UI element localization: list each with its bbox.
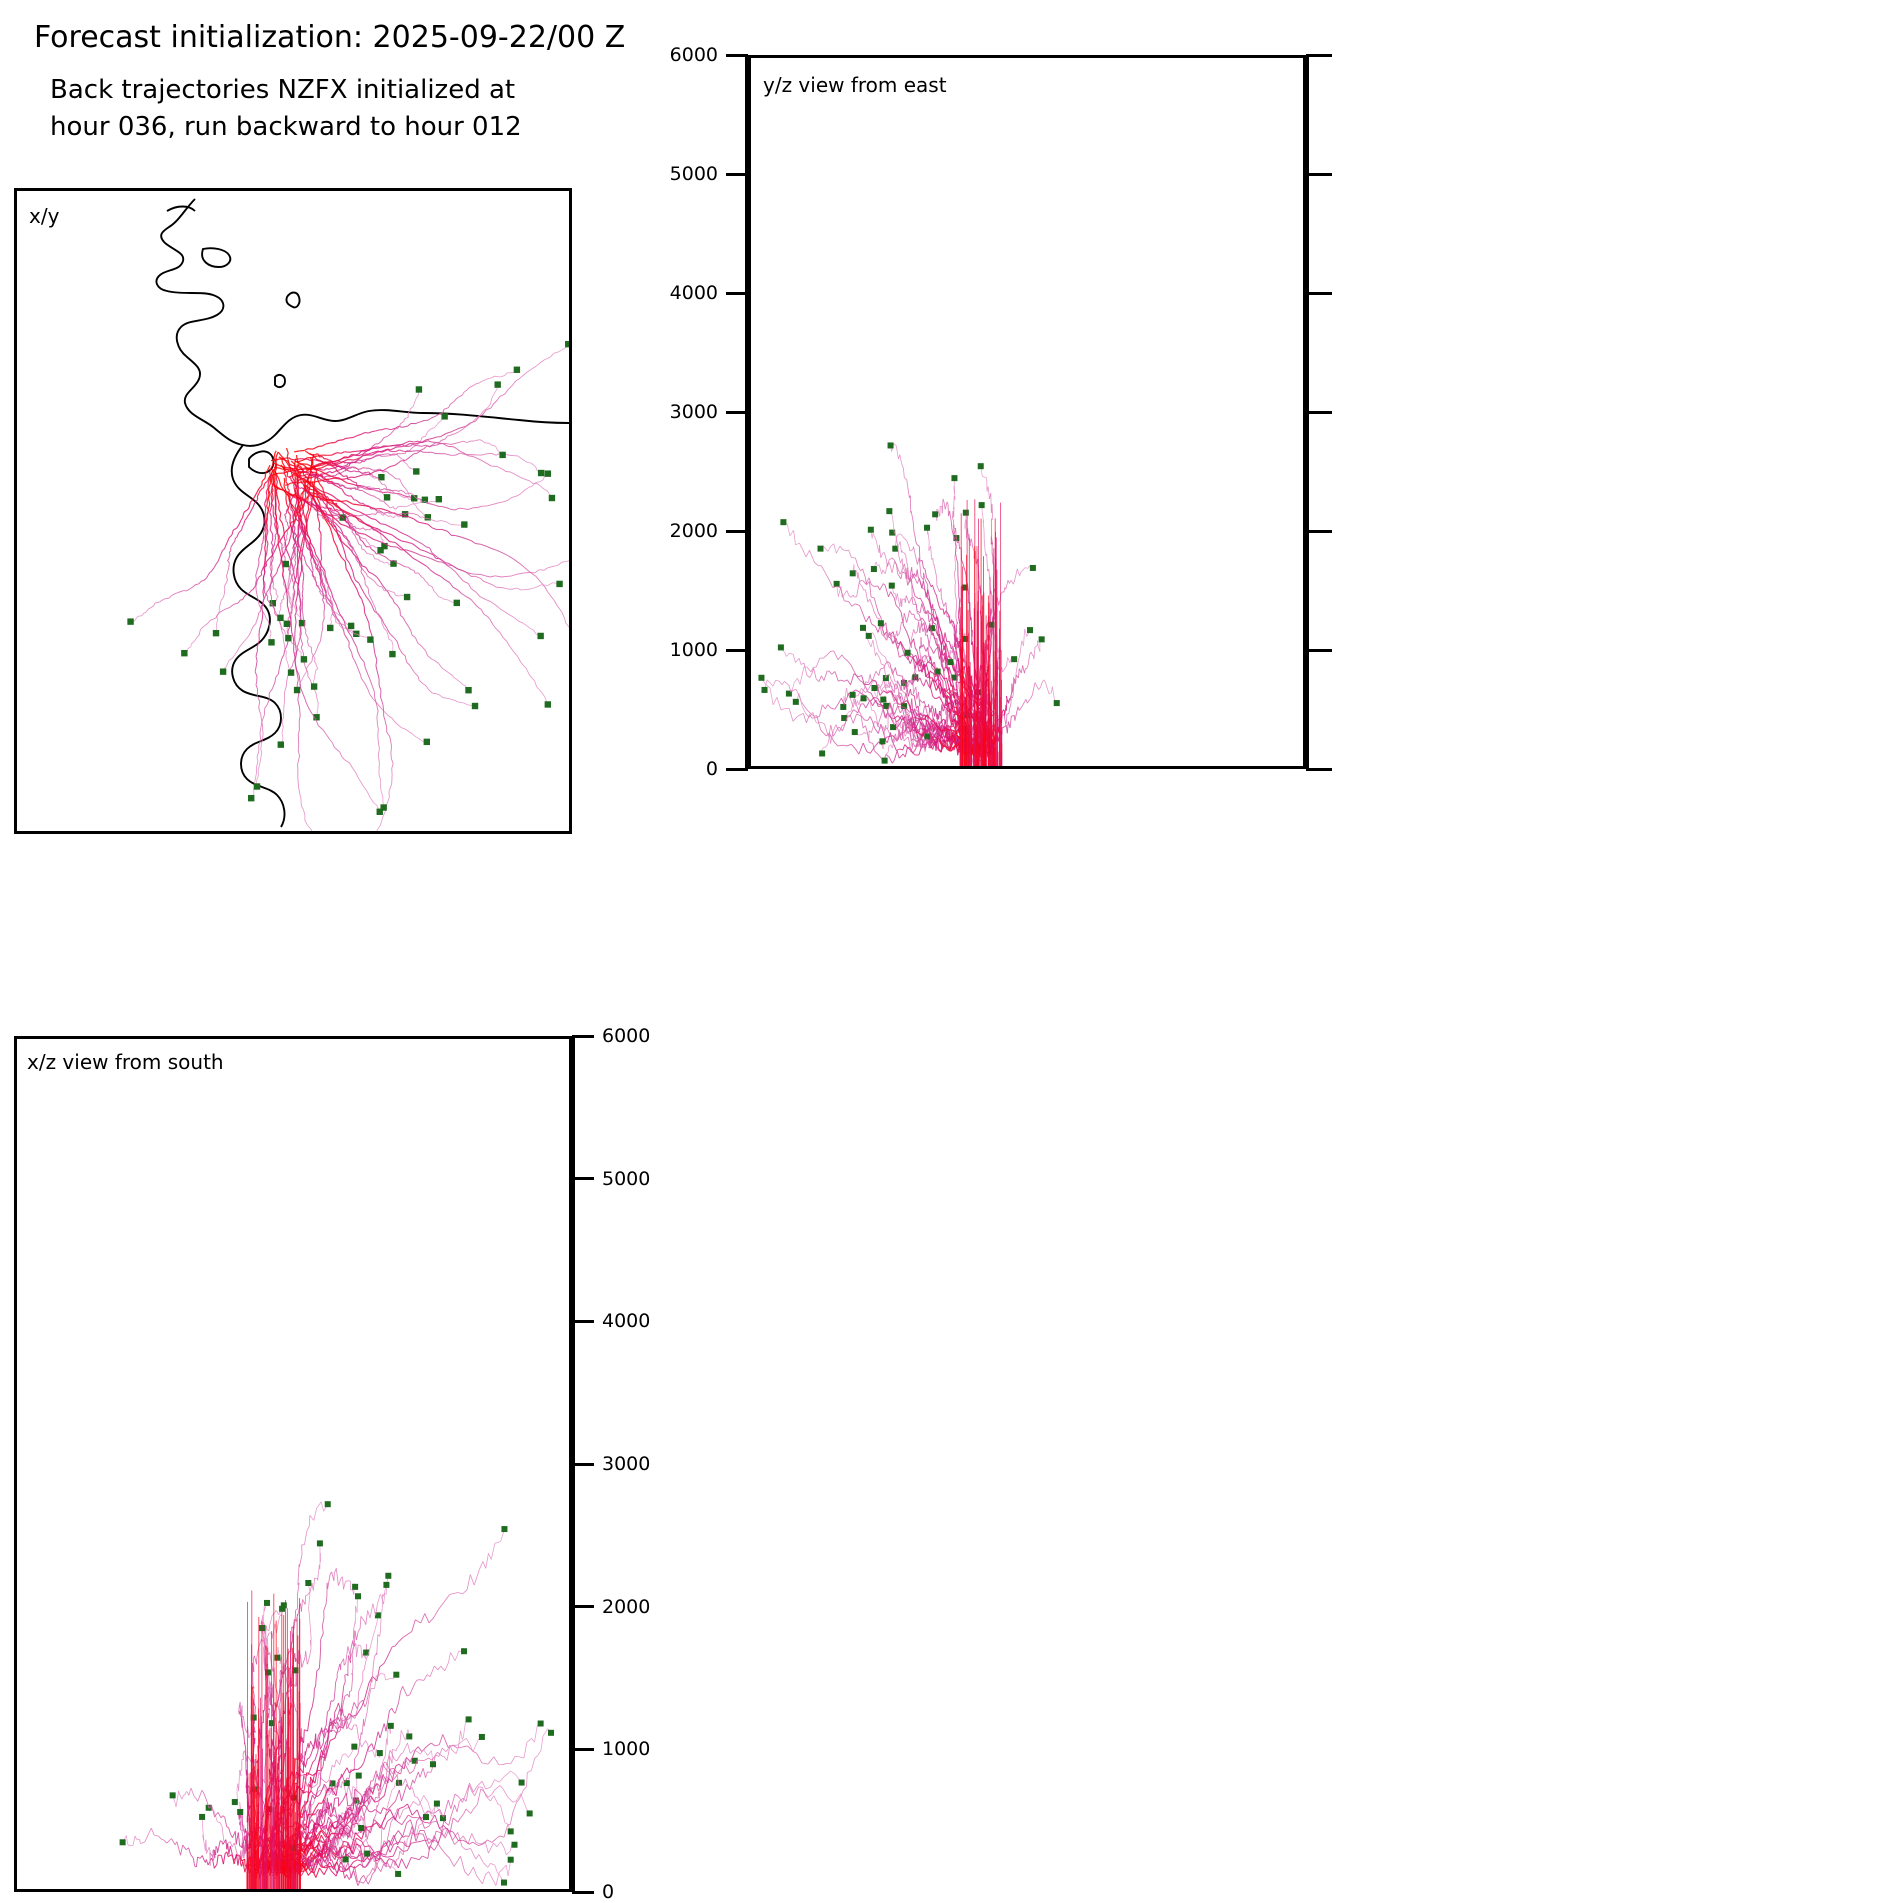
trajectory-line [361, 568, 362, 572]
trajectory-line [349, 548, 352, 551]
trajectory-line [266, 559, 269, 562]
trajectory-line [366, 616, 369, 623]
trajectory-line [388, 635, 389, 639]
trajectory-line [419, 421, 424, 423]
trajectory-line [413, 734, 415, 736]
trajectory-line [308, 825, 312, 830]
trajectory-line [531, 463, 536, 467]
trajectory-line [285, 590, 287, 594]
trajectory-line [298, 502, 299, 507]
trajectory-line [356, 454, 359, 455]
trajectory-line [493, 400, 497, 404]
trajectory-line [342, 626, 344, 631]
trajectory-line [805, 708, 809, 713]
trajectory-line [319, 457, 322, 458]
trajectory-line [354, 660, 356, 664]
trajectory-line [295, 645, 296, 646]
trajectory-line [254, 623, 257, 626]
trajectory-line [331, 620, 332, 623]
trajectory-line [266, 550, 267, 554]
trajectory-line [393, 599, 395, 603]
trajectory-line [488, 617, 491, 620]
trajectory-line [395, 595, 399, 596]
trajectory-line [813, 667, 816, 668]
trajectory-endpoint-marker [436, 496, 442, 502]
trajectory-line [821, 566, 825, 574]
trajectory-line [333, 507, 335, 511]
trajectory-line [513, 651, 517, 656]
trajectory-line [547, 591, 550, 595]
trajectory-line [794, 678, 797, 683]
trajectory-line [265, 615, 266, 618]
trajectory-line [504, 373, 507, 376]
trajectory-line [463, 581, 468, 584]
trajectory-line [265, 543, 266, 548]
trajectory-line [406, 418, 408, 419]
axis-tick [726, 649, 748, 652]
trajectory-line [821, 730, 827, 736]
trajectory-line [988, 487, 989, 500]
trajectory-endpoint-marker [461, 521, 467, 527]
trajectory-line [267, 506, 268, 509]
trajectory-line [239, 521, 241, 525]
trajectory-line [300, 511, 301, 516]
trajectory-line [870, 747, 874, 753]
trajectory-line [430, 416, 436, 419]
trajectory-line [476, 383, 479, 384]
trajectory-line [426, 557, 431, 559]
trajectory-line [405, 729, 409, 732]
trajectory-line [868, 692, 871, 693]
trajectory-line [224, 609, 227, 610]
trajectory-line [270, 524, 271, 527]
trajectory-line [336, 518, 338, 519]
trajectory-line [328, 591, 329, 595]
trajectory-line [445, 580, 450, 583]
trajectory-line [357, 528, 360, 529]
trajectory-line [287, 594, 288, 599]
trajectory-line [338, 609, 340, 614]
trajectory-line [345, 438, 349, 439]
trajectory-line [1008, 657, 1010, 663]
trajectory-line [900, 749, 903, 750]
trajectory-line [275, 532, 277, 536]
trajectory-line [462, 393, 463, 396]
trajectory-line [900, 455, 902, 464]
trajectory-line [958, 684, 959, 692]
trajectory-line [421, 646, 426, 651]
trajectory-line [810, 550, 815, 562]
trajectory-line [917, 545, 919, 547]
trajectory-line [524, 372, 528, 375]
trajectory-line [360, 540, 362, 542]
trajectory-line [441, 434, 446, 437]
trajectory-line [460, 508, 464, 509]
trajectory-line [512, 588, 517, 589]
trajectory-line [285, 650, 287, 652]
trajectory-line [361, 636, 364, 637]
trajectory-line [364, 550, 367, 554]
axis-tick [1306, 649, 1332, 652]
trajectory-line [439, 441, 441, 443]
trajectory-line [255, 668, 256, 672]
trajectory-line [355, 526, 356, 528]
trajectory-line [415, 553, 422, 556]
trajectory-line [286, 509, 287, 512]
trajectory-line [332, 453, 337, 456]
trajectory-line [267, 503, 268, 506]
trajectory-line [458, 395, 462, 397]
trajectory-line [388, 592, 390, 596]
trajectory-line [258, 599, 259, 603]
trajectory-line [301, 540, 302, 546]
trajectory-line [314, 481, 318, 482]
trajectory-line [306, 633, 309, 638]
trajectory-line [500, 376, 504, 377]
trajectory-line [300, 533, 301, 535]
trajectory-line [354, 471, 358, 472]
trajectory-line [377, 711, 378, 717]
trajectory-endpoint-marker [494, 381, 500, 387]
trajectory-line [846, 550, 849, 551]
trajectory-line [354, 476, 360, 478]
trajectory-line [160, 601, 162, 602]
trajectory-line [404, 492, 406, 494]
trajectory-line [510, 615, 513, 617]
trajectory-line [489, 443, 492, 445]
trajectory-line [239, 644, 242, 648]
trajectory-line [323, 619, 325, 623]
trajectory-line [337, 453, 342, 454]
trajectory-endpoint-marker [817, 546, 823, 552]
trajectory-line [566, 623, 569, 628]
trajectory-line [405, 463, 407, 464]
trajectory-line [331, 592, 333, 598]
trajectory-line [325, 571, 326, 576]
trajectory-endpoint-marker [301, 656, 307, 662]
trajectory-line [418, 498, 421, 499]
trajectory-line [487, 378, 491, 379]
trajectory-endpoint-marker [277, 615, 283, 621]
trajectory-line [351, 523, 352, 524]
trajectory-line [342, 489, 344, 492]
trajectory-line [500, 633, 503, 638]
trajectory-line [364, 662, 365, 667]
trajectory-line [384, 514, 386, 515]
trajectory-line [485, 599, 491, 601]
trajectory-line [233, 604, 236, 605]
trajectory-line [275, 469, 276, 472]
trajectory-line [268, 620, 269, 624]
trajectory-line [261, 548, 262, 552]
trajectory-line [455, 536, 461, 538]
trajectory-line [297, 537, 298, 542]
trajectory-line [920, 598, 923, 604]
trajectory-line [378, 736, 379, 743]
trajectory-line [847, 590, 849, 595]
trajectory-endpoint-marker [888, 442, 894, 448]
trajectory-line [886, 737, 889, 738]
trajectory-line [399, 457, 400, 458]
trajectory-line [274, 549, 276, 553]
trajectory-line [303, 545, 304, 550]
trajectory-line [911, 511, 913, 521]
trajectory-endpoint-marker [545, 701, 551, 707]
trajectory-line [495, 376, 501, 377]
trajectory-line [289, 538, 290, 542]
trajectory-line [508, 386, 512, 390]
trajectory-line [343, 439, 345, 440]
trajectory-line [250, 509, 252, 513]
trajectory-line [267, 544, 268, 548]
trajectory-line [259, 699, 260, 701]
axis-tick [1306, 768, 1332, 771]
trajectory-line [455, 508, 460, 510]
trajectory-line [257, 489, 259, 492]
trajectory-line [460, 682, 463, 685]
trajectory-line [825, 705, 827, 709]
trajectory-line [497, 629, 500, 632]
trajectory-line [424, 523, 428, 524]
trajectory-line [243, 525, 244, 526]
trajectory-line [298, 548, 299, 551]
trajectory-line [281, 536, 283, 539]
trajectory-line [142, 613, 144, 616]
trajectory-line [856, 704, 858, 711]
trajectory-line [227, 560, 229, 563]
trajectory-line [283, 637, 284, 642]
trajectory-line [356, 773, 358, 778]
trajectory-line [257, 567, 259, 572]
trajectory-line [211, 568, 214, 572]
trajectory-line [847, 744, 851, 746]
trajectory-line [295, 537, 296, 540]
trajectory-line [290, 562, 291, 566]
trajectory-endpoint-marker [389, 651, 395, 657]
trajectory-line [263, 587, 264, 592]
trajectory-line [298, 751, 299, 756]
trajectory-line [528, 570, 533, 574]
trajectory-line [282, 548, 283, 552]
trajectory-line [220, 555, 221, 558]
trajectory-line [318, 641, 321, 646]
trajectory-line [412, 635, 416, 638]
trajectory-line [433, 445, 437, 446]
trajectory-line [837, 586, 840, 587]
trajectory-line [387, 631, 388, 635]
trajectory-line [280, 514, 281, 520]
coastline [167, 207, 195, 212]
axis-tick-label: 0 [706, 758, 718, 780]
trajectory-line [284, 473, 286, 478]
trajectory-line [898, 641, 901, 649]
trajectory-line [397, 516, 400, 518]
trajectory-line [800, 667, 804, 685]
trajectory-line [272, 683, 274, 689]
trajectory-line [842, 655, 844, 658]
trajectory-line [355, 510, 360, 512]
trajectory-line [359, 670, 361, 674]
trajectory-line [368, 675, 370, 679]
trajectory-line [287, 504, 289, 507]
trajectory-line [947, 717, 948, 723]
trajectory-line [943, 703, 944, 704]
trajectory-line [1003, 669, 1005, 672]
trajectory-line [446, 508, 450, 510]
trajectory-endpoint-marker [284, 621, 290, 627]
trajectory-line [377, 705, 379, 712]
trajectory-line [850, 716, 853, 724]
trajectory-line [339, 510, 342, 511]
trajectory-line [351, 489, 352, 490]
trajectory-line [296, 471, 299, 472]
trajectory-line [295, 504, 296, 505]
trajectory-line [335, 474, 337, 476]
trajectory-line [383, 704, 384, 709]
trajectory-line [354, 642, 357, 647]
trajectory-line [280, 552, 281, 558]
trajectory-line [537, 687, 542, 693]
trajectory-line [842, 550, 846, 551]
trajectory-line [220, 610, 224, 612]
trajectory-line [481, 579, 484, 582]
trajectory-line [985, 477, 987, 478]
trajectory-line [311, 493, 317, 494]
trajectory-line [343, 460, 347, 462]
trajectory-line [286, 549, 288, 555]
trajectory-line [915, 578, 917, 583]
trajectory-line [389, 716, 393, 718]
trajectory-line [308, 676, 310, 679]
trajectory-line [365, 684, 368, 690]
trajectory-line [289, 617, 290, 618]
trajectory-line [371, 549, 375, 552]
trajectory-line [323, 518, 324, 519]
trajectory-line [409, 627, 411, 631]
trajectory-line [421, 740, 424, 743]
trajectory-line [335, 513, 337, 514]
trajectory-line [297, 545, 298, 548]
trajectory-line [289, 582, 290, 586]
trajectory-line [303, 478, 306, 479]
trajectory-line [264, 483, 265, 488]
trajectory-line [894, 751, 897, 761]
trajectory-line [336, 623, 339, 624]
trajectory-line [304, 514, 305, 518]
trajectory-line [866, 616, 869, 622]
panel-yz-view-from-east: y/z view from east [748, 55, 1306, 769]
trajectory-line [303, 694, 305, 700]
trajectory-line [403, 497, 405, 498]
trajectory-line [265, 498, 267, 503]
trajectory-line [305, 485, 306, 486]
trajectory-line [361, 678, 365, 683]
trajectory-line [275, 589, 276, 591]
trajectory-line [410, 513, 412, 514]
trajectory-line [230, 555, 231, 557]
trajectory-line [413, 558, 417, 560]
trajectory-line [249, 502, 250, 507]
trajectory-endpoint-marker [868, 527, 874, 533]
trajectory-line [389, 639, 392, 641]
trajectory-endpoint-marker [416, 386, 422, 392]
trajectory-line [287, 453, 288, 457]
trajectory-line [915, 596, 919, 599]
trajectory-line [319, 527, 320, 529]
trajectory-line [436, 574, 441, 577]
trajectory-line [196, 637, 197, 639]
trajectory-line [333, 536, 334, 541]
trajectory-line [782, 681, 784, 684]
trajectory-line [454, 447, 457, 449]
trajectory-line [360, 537, 362, 538]
trajectory-line [451, 444, 455, 445]
trajectory-line [297, 479, 298, 483]
trajectory-line [226, 608, 229, 609]
trajectory-line [492, 549, 497, 551]
trajectory-line [533, 630, 536, 634]
trajectory-line [482, 454, 485, 455]
trajectory-line [292, 603, 293, 605]
trajectory-line [899, 754, 903, 758]
trajectory-line [297, 642, 299, 646]
trajectory-line [259, 707, 260, 711]
trajectory-line [551, 596, 555, 601]
trajectory-line [363, 487, 365, 489]
trajectory-line [389, 784, 392, 791]
axis-tick-label: 6000 [670, 44, 718, 66]
trajectory-line [432, 520, 437, 522]
trajectory-line [283, 527, 284, 533]
trajectory-line [288, 507, 289, 511]
trajectory-line [509, 455, 515, 456]
trajectory-line [541, 486, 543, 488]
trajectory-line [290, 494, 293, 495]
trajectory-line [319, 469, 322, 470]
trajectory-line [439, 663, 443, 668]
trajectory-line [366, 472, 368, 473]
trajectory-line [306, 452, 309, 454]
trajectory-line [331, 617, 332, 620]
trajectory-line [929, 582, 931, 587]
trajectory-line [287, 473, 288, 476]
yz-plot-canvas [751, 58, 1303, 766]
trajectory-line [364, 577, 365, 581]
trajectory-line [320, 589, 321, 591]
trajectory-line [834, 544, 837, 553]
trajectory-line [276, 674, 279, 677]
trajectory-line [298, 730, 299, 735]
trajectory-line [1002, 668, 1003, 673]
trajectory-line [336, 486, 339, 488]
trajectory-line [259, 555, 261, 560]
trajectory-line [452, 566, 457, 569]
trajectory-line [345, 562, 346, 569]
trajectory-endpoint-marker [499, 452, 505, 458]
trajectory-line [303, 534, 304, 535]
trajectory-line [290, 559, 291, 561]
trajectory-endpoint-marker [248, 795, 254, 801]
trajectory-line [282, 489, 285, 491]
trajectory-line [407, 662, 411, 666]
trajectory-line [428, 689, 432, 693]
trajectory-line [399, 595, 402, 596]
trajectory-line [175, 593, 178, 594]
trajectory-line [362, 461, 363, 462]
trajectory-line [492, 585, 496, 587]
trajectory-line [843, 594, 845, 597]
trajectory-line [237, 533, 238, 537]
